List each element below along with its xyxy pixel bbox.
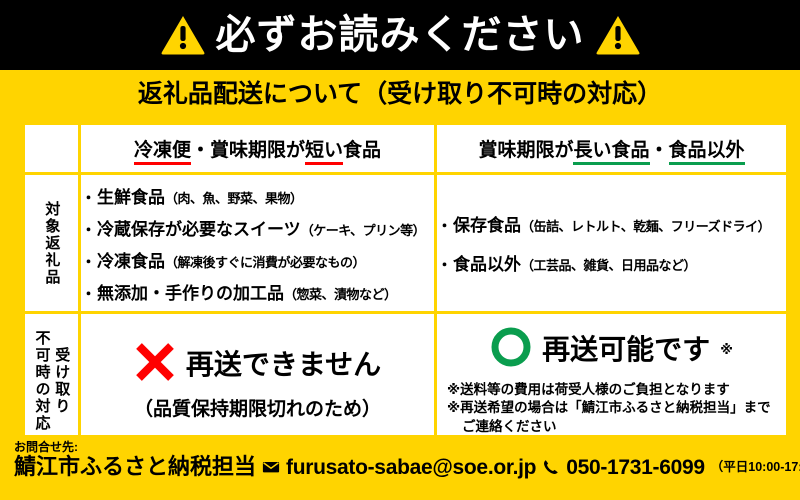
subtitle-text: 返礼品配送について（受け取り不可時の対応） — [138, 82, 662, 107]
list-item: ・食品以外（工芸品、雑貨、日用品など） — [437, 250, 786, 275]
item-main: 食品以外 — [453, 255, 521, 274]
item-main: 保存食品 — [453, 216, 521, 235]
response-label: 再送できません — [186, 351, 381, 379]
asterisk-mark: ※ — [720, 342, 733, 358]
table-row: 対象返礼品 ・生鮮食品（肉、魚、野菜、果物） ・冷蔵保存が必要なスイーツ（ケーキ… — [24, 174, 788, 313]
item-main: 冷蔵保存が必要なスイーツ — [97, 220, 301, 239]
col-a-head-sep1: ・ — [191, 140, 210, 161]
corner-cell — [24, 124, 80, 174]
bullet-dot-icon: ・ — [437, 218, 452, 235]
column-header-long-shelf-life: 賞味期限が長い食品・食品以外 — [436, 124, 788, 174]
cross-mark-icon — [134, 341, 176, 388]
column-header-short-shelf-life: 冷凍便・賞味期限が短い食品 — [80, 124, 436, 174]
item-sub: （惣菜、漬物など） — [284, 287, 397, 302]
list-item: ・冷凍食品（解凍後すぐに消費が必要なもの） — [81, 247, 434, 272]
page-title: 必ずお読みください — [216, 15, 585, 55]
response-notes: ※送料等の費用は荷受人様のご負担となります ※再送希望の場合は「鯖江市ふるさと納… — [437, 381, 786, 436]
item-sub: （解凍後すぐに消費が必要なもの） — [165, 255, 365, 270]
row-label-line: 対象返礼品 — [43, 201, 61, 286]
bullet-dot-icon: ・ — [81, 222, 96, 239]
list-item: ・保存食品（缶詰、レトルト、乾麺、フリーズドライ） — [437, 211, 786, 236]
contact-department: 鯖江市ふるさと納税担当 — [14, 456, 256, 478]
list-item: ・冷蔵保存が必要なスイーツ（ケーキ、プリン等） — [81, 215, 434, 240]
bullet-dot-icon: ・ — [437, 257, 452, 274]
note-line: ※再送希望の場合は「鯖江市ふるさと納税担当」まで — [447, 399, 786, 417]
col-a-head-part2: 賞味期限が — [210, 140, 305, 161]
item-main: 無添加・手作りの加工品 — [97, 284, 284, 303]
bullet-dot-icon: ・ — [81, 190, 96, 207]
list-item: ・生鮮食品（肉、魚、野菜、果物） — [81, 183, 434, 208]
item-sub: （ケーキ、プリン等） — [301, 223, 425, 238]
contact-email[interactable]: furusato-sabae@soe.or.jp — [286, 457, 536, 478]
phone-icon — [542, 458, 560, 476]
item-main: 生鮮食品 — [97, 188, 165, 207]
col-b-head-part3: 食品 — [611, 140, 649, 165]
row-label-line: 受け取り — [53, 330, 71, 432]
col-b-head-part4: 食品以外 — [669, 140, 745, 165]
poster-root: 必ずお読みください 返礼品配送について（受け取り不可時の対応） 冷凍便・賞 — [0, 0, 800, 500]
cell-long-shelf-life-items: ・保存食品（缶詰、レトルト、乾麺、フリーズドライ） ・食品以外（工芸品、雑貨、日… — [436, 174, 788, 313]
row-label-target-gifts: 対象返礼品 — [24, 174, 80, 313]
row-label-undeliverable-response: 受け取り 不可時の対応 — [24, 313, 80, 450]
subtitle-band: 返礼品配送について（受け取り不可時の対応） — [0, 70, 800, 118]
note-line-continuation: ご連絡ください — [447, 418, 786, 436]
cell-can-resend: 再送可能です※ ※送料等の費用は荷受人様のご負担となります ※再送希望の場合は「… — [436, 313, 788, 450]
item-sub: （缶詰、レトルト、乾麺、フリーズドライ） — [521, 219, 770, 234]
col-b-head-sep1: ・ — [650, 140, 669, 161]
response-label: 再送可能です — [542, 336, 710, 364]
row-label-line: 不可時の対応 — [33, 330, 51, 432]
header-bar: 必ずお読みください — [0, 0, 800, 70]
col-b-head-part2: 長い — [573, 140, 611, 165]
contact-phone[interactable]: 050-1731-6099 — [566, 457, 705, 478]
contact-label: お問合せ先: — [14, 441, 786, 454]
cell-cannot-resend: 再送できません （品質保持期限切れのため） — [80, 313, 436, 450]
col-a-head-part3: 短い — [305, 140, 343, 165]
col-b-head-part1: 賞味期限が — [478, 140, 573, 161]
circle-mark-icon — [490, 326, 532, 373]
table-row: 受け取り 不可時の対応 再送できません — [24, 313, 788, 450]
bullet-dot-icon: ・ — [81, 286, 96, 303]
bullet-dot-icon: ・ — [81, 254, 96, 271]
response-sublabel: （品質保持期限切れのため） — [81, 394, 434, 421]
table-header-row: 冷凍便・賞味期限が短い食品 賞味期限が長い食品・食品以外 — [24, 124, 788, 174]
list-item: ・無添加・手作りの加工品（惣菜、漬物など） — [81, 279, 434, 304]
item-main: 冷凍食品 — [97, 252, 165, 271]
col-a-head-part4: 食品 — [343, 140, 381, 161]
envelope-icon — [262, 458, 280, 476]
warning-triangle-icon — [160, 14, 206, 56]
item-sub: （肉、魚、野菜、果物） — [165, 191, 303, 206]
warning-triangle-icon — [595, 14, 641, 56]
cell-short-shelf-life-items: ・生鮮食品（肉、魚、野菜、果物） ・冷蔵保存が必要なスイーツ（ケーキ、プリン等）… — [80, 174, 436, 313]
info-table: 冷凍便・賞味期限が短い食品 賞味期限が長い食品・食品以外 対象返礼品 — [18, 118, 782, 435]
item-sub: （工芸品、雑貨、日用品など） — [521, 258, 696, 273]
col-a-head-part1: 冷凍便 — [134, 140, 191, 165]
contact-hours: （平日10:00-17:00対応） — [711, 461, 800, 474]
note-line: ※送料等の費用は荷受人様のご負担となります — [447, 381, 786, 399]
contact-footer: お問合せ先: 鯖江市ふるさと納税担当 furusato-sabae@soe.or… — [0, 435, 800, 478]
